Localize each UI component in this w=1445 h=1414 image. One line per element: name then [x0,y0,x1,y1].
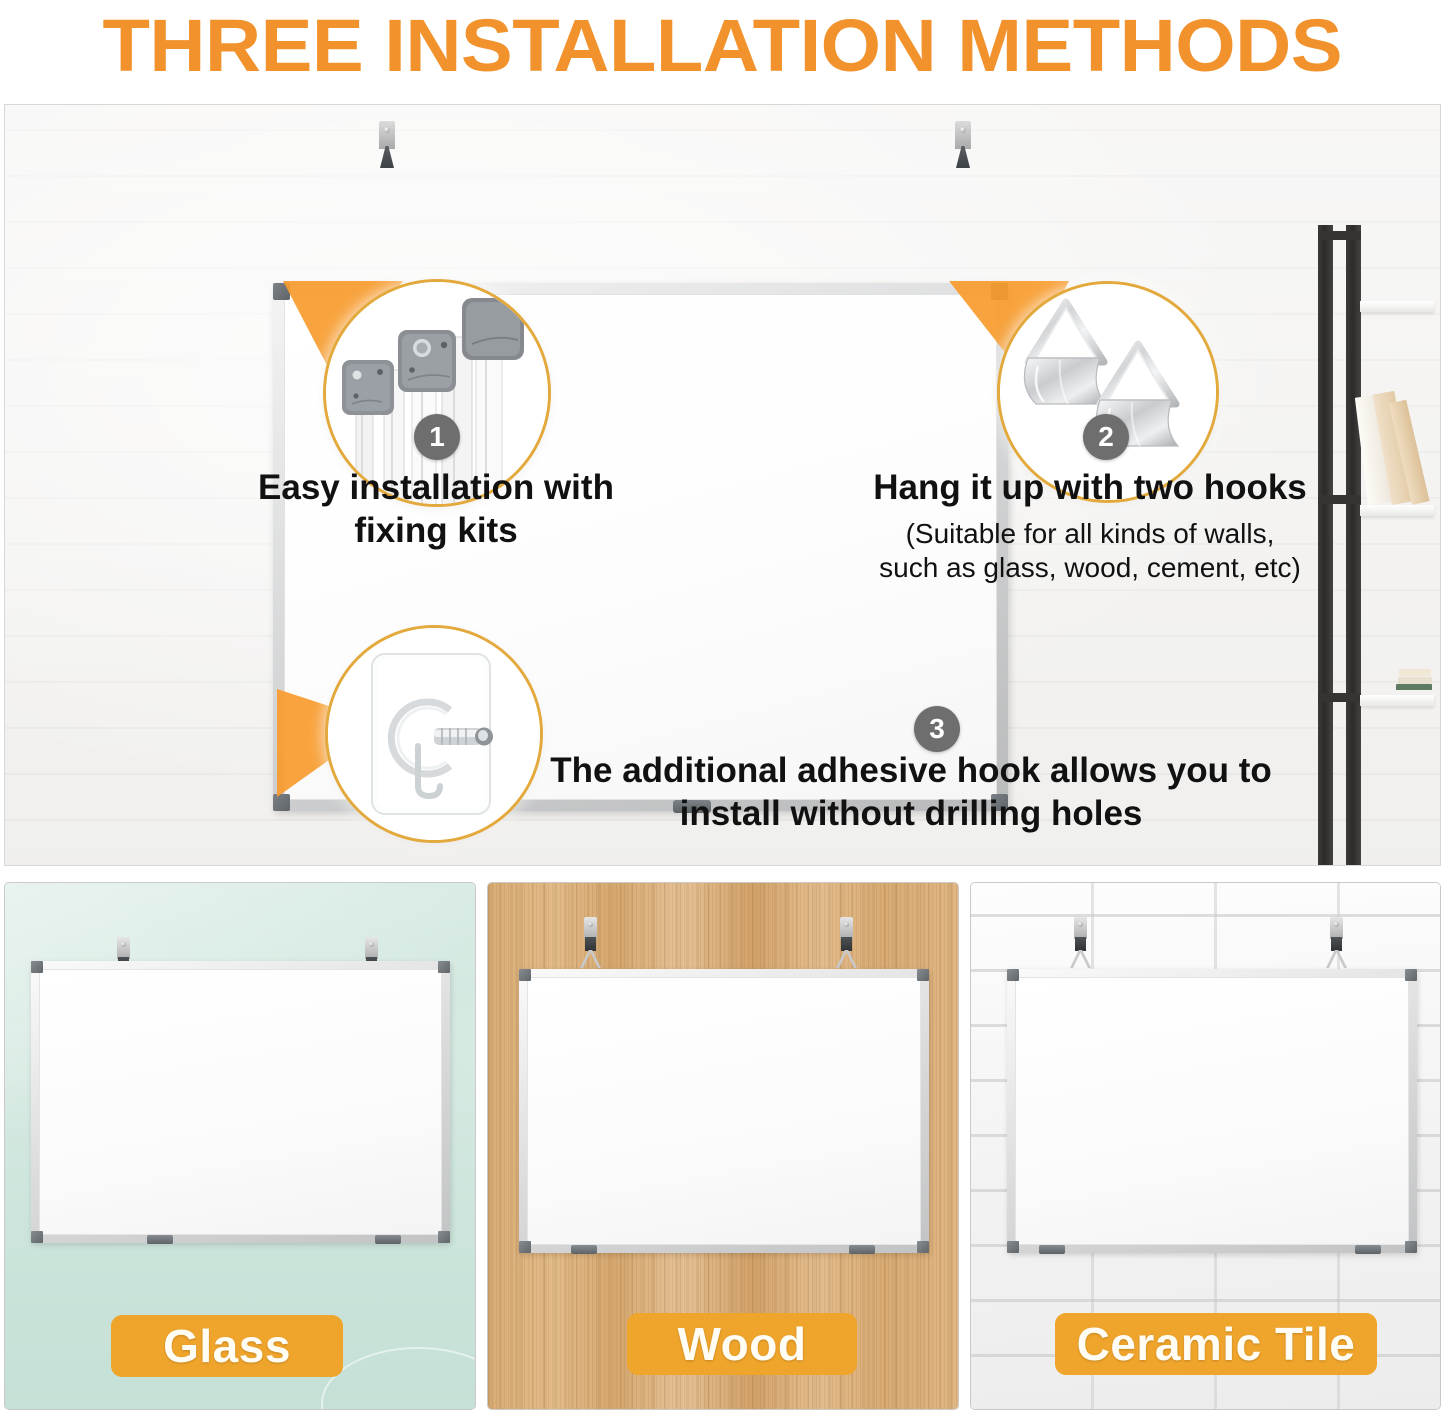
material-label-ceramic-tile: Ceramic Tile [1055,1313,1377,1375]
panel-glass: Glass [4,882,476,1410]
step-badge-1: 1 [414,414,460,460]
whiteboard-corner-top-left [31,961,43,973]
material-label-glass: Glass [111,1315,343,1377]
hook-plate [1074,917,1087,939]
whiteboard-tray-clip-right [1355,1245,1381,1254]
hook-wire-triangle [1070,950,1091,968]
whiteboard-surface [527,977,921,1245]
whiteboard-surface [1015,977,1409,1245]
whiteboard-corner-bottom-right [1405,1241,1417,1253]
step-3-headline-line1: The additional adhesive hook allows you … [547,750,1275,793]
step-2-sub-line2: such as glass, wood, cement, etc) [847,551,1333,585]
hang-hook-left [1070,917,1090,971]
hook-screw [1334,922,1339,927]
whiteboard-frame [1007,969,1417,1253]
whiteboard-corner-bottom-left [31,1231,43,1243]
hook-plate [365,937,378,959]
step-3-headline-line2: install without drilling holes [547,793,1275,836]
hang-hook-right [1326,917,1346,971]
page-title-bar: THREE INSTALLATION METHODS [0,0,1445,92]
panel-wood: Wood [487,882,959,1410]
wall-hook-triangle [380,146,394,168]
step-badge-3: 3 [914,706,960,752]
hero-installation-scene: 1 2 3 Easy installation with fixing kits… [4,104,1441,866]
whiteboard-corner-top-right [438,961,450,973]
hook-screw [844,922,849,927]
panel-ceramic-tile: Ceramic Tile [970,882,1441,1410]
step-2-sub-line1: (Suitable for all kinds of walls, [847,517,1333,551]
wall-hook-left [376,121,398,169]
adhesive-screw-hook-icon [328,628,543,843]
hang-hook-right [836,917,856,971]
shelf-crossbar-low [1318,693,1361,702]
whiteboard-on-glass [31,961,450,1243]
page-title: THREE INSTALLATION METHODS [103,9,1343,83]
whiteboard-frame [519,969,929,1253]
material-label-wood: Wood [627,1313,857,1375]
hook-wire-triangle [1326,950,1347,968]
whiteboard-tray-clip-left [1039,1245,1065,1254]
step-caption-3: The additional adhesive hook allows you … [547,750,1275,835]
hook-body [1075,937,1086,951]
book [1399,669,1431,676]
book [1396,684,1432,690]
shelf-board-1 [1360,301,1434,312]
step-1-headline-line2: fixing kits [201,510,671,553]
hook-plate [584,917,597,939]
hook-screw [1078,922,1083,927]
step-caption-1: Easy installation with fixing kits [201,467,671,552]
whiteboard-frame [31,961,450,1243]
step-caption-2: Hang it up with two hooks (Suitable for … [847,467,1333,585]
book [1398,677,1432,684]
whiteboard-corner-top-left [519,969,531,981]
shelf-crossbar-top [1318,231,1361,240]
whiteboard-corner-bottom-left [519,1241,531,1253]
shelf-board-3 [1360,695,1434,706]
whiteboard-corner-bottom-left [1007,1241,1019,1253]
hook-body [1331,937,1342,951]
hook-body [841,937,852,951]
wall-hook-screw [384,127,390,133]
hook-screw [369,942,374,947]
whiteboard-corner-top-right [1405,969,1417,981]
whiteboard-surface [39,969,442,1235]
whiteboard-corner-bottom-right [438,1231,450,1243]
hook-body [585,937,596,951]
wall-hook-plate [379,121,395,149]
callout-adhesive-hook [325,625,543,843]
hook-screw [588,922,593,927]
whiteboard-corner-top-right [917,969,929,981]
whiteboard-corner-bottom-right [917,1241,929,1253]
wall-hook-triangle [956,146,970,168]
wall-hook-plate [955,121,971,149]
wall-hook-right [952,121,974,169]
hook-plate [840,917,853,939]
shelf-post-right [1346,225,1361,866]
whiteboard-corner-top-left [1007,969,1019,981]
hook-plate [117,937,130,959]
whiteboard-tray-clip-right [375,1235,401,1244]
whiteboard-on-tile [1007,969,1417,1253]
hang-hook-left [580,917,600,971]
hook-screw [121,942,126,947]
hook-wire-triangle [580,950,601,968]
whiteboard-on-wood [519,969,929,1253]
step-badge-2: 2 [1083,414,1129,460]
whiteboard-tray-clip-left [147,1235,173,1244]
whiteboard-tray-clip-right [849,1245,875,1254]
material-panels: Glass Wood [0,878,1445,1414]
shelf-board-2 [1360,505,1434,516]
hook-wire-triangle [836,950,857,968]
hook-plate [1330,917,1343,939]
wall-hook-screw [960,127,966,133]
whiteboard-tray-clip-left [571,1245,597,1254]
step-2-headline-line1: Hang it up with two hooks [847,467,1333,510]
step-1-headline-line1: Easy installation with [201,467,671,510]
